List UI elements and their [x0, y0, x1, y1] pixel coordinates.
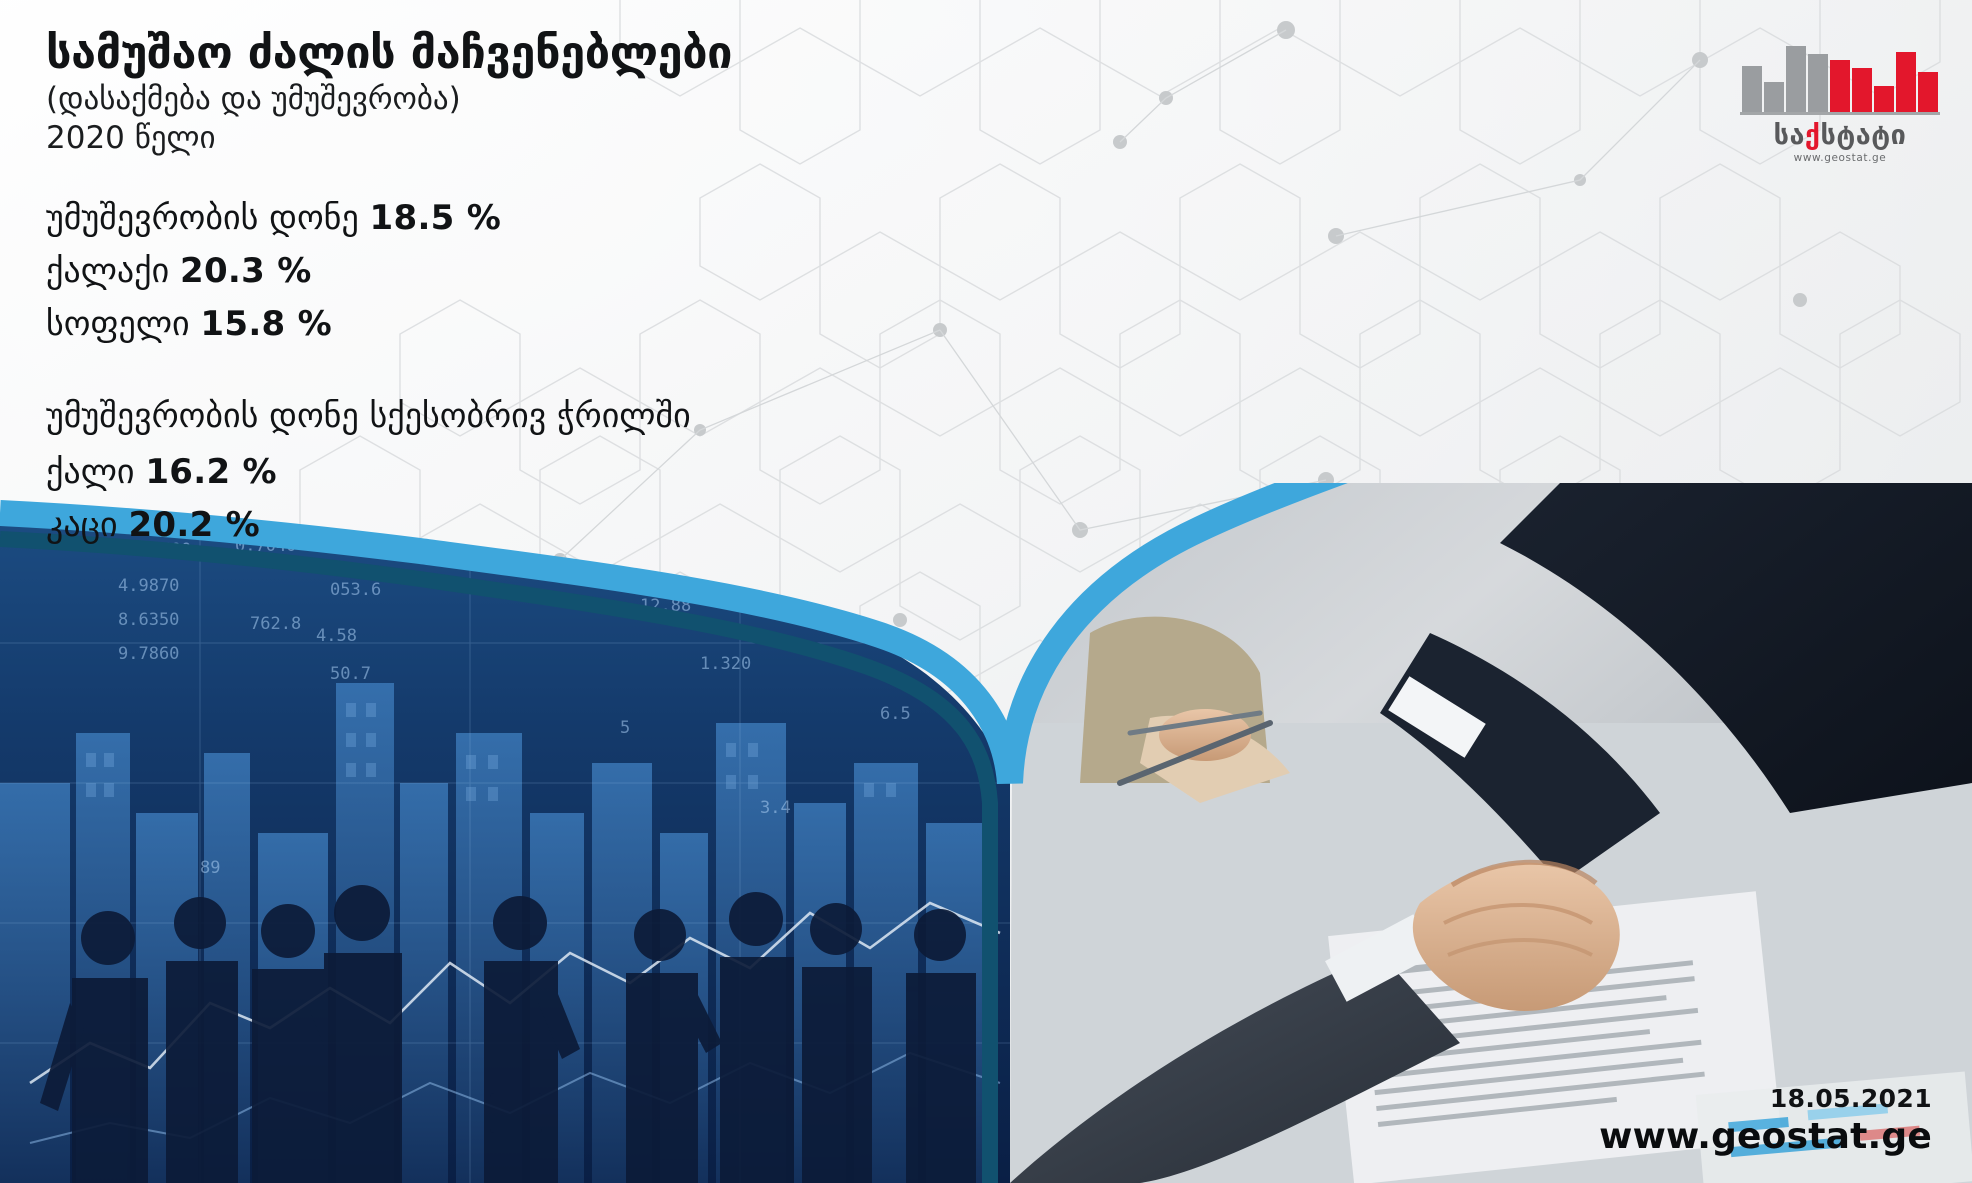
svg-text:50.7: 50.7 [330, 664, 371, 684]
reference-year: 2020 წელი [46, 120, 1126, 158]
stat-row: კაცი 20.2 % [46, 499, 1126, 552]
logo-wordmark: საქსტატი [1740, 122, 1940, 149]
logo-bar [1874, 86, 1894, 112]
stat-label: ქალაქი [46, 251, 169, 291]
stat-row: ქალი 16.2 % [46, 446, 1126, 499]
by-sex-stat-group: უმუშევრობის დონე სქესობრივ ჭრილში ქალი 1… [46, 391, 1126, 552]
logo-bar [1742, 66, 1762, 112]
stat-label: კაცი [46, 505, 118, 545]
by-sex-heading: უმუშევრობის დონე სქესობრივ ჭრილში [46, 391, 1126, 442]
bottom-artwork: CONTRACT [0, 483, 1972, 1183]
geostat-logo[interactable]: საქსტატი www.geostat.ge [1740, 36, 1940, 164]
stat-row: ქალაქი 20.3 % [46, 245, 1126, 298]
logo-wordmark-part-1: სა [1774, 120, 1805, 151]
handshake-photo: CONTRACT [980, 483, 1972, 1183]
footer: 18.05.2021 www.geostat.ge [1599, 1084, 1932, 1157]
headline-and-stats: სამუშაო ძალის მაჩვენებლები (დასაქმება და… [46, 28, 1126, 552]
svg-text:6.5: 6.5 [880, 704, 911, 724]
stat-value: 15.8 % [200, 304, 332, 344]
logo-bar [1786, 46, 1806, 112]
primary-stat-group: უმუშევრობის დონე 18.5 % ქალაქი 20.3 % სო… [46, 192, 1126, 351]
svg-text:5: 5 [620, 718, 630, 738]
website-url[interactable]: www.geostat.ge [1599, 1116, 1932, 1157]
svg-text:1.320: 1.320 [700, 654, 751, 674]
stat-value: 20.2 % [128, 505, 260, 545]
stat-label: სოფელი [46, 304, 190, 344]
logo-bar [1764, 82, 1784, 112]
svg-text:053.6: 053.6 [330, 580, 381, 600]
stat-value: 16.2 % [145, 452, 277, 492]
svg-text:4.9870: 4.9870 [118, 576, 179, 596]
svg-text:9.7860: 9.7860 [118, 644, 179, 664]
logo-url: www.geostat.ge [1740, 152, 1940, 164]
stat-value: 20.3 % [180, 251, 312, 291]
svg-text:762.8: 762.8 [250, 614, 301, 634]
stat-label: ქალი [46, 452, 135, 492]
stat-label: უმუშევრობის დონე [46, 198, 359, 238]
logo-bar [1852, 68, 1872, 112]
logo-bar [1808, 54, 1828, 112]
page-title: სამუშაო ძალის მაჩვენებლები [46, 28, 1126, 78]
stat-row: უმუშევრობის დონე 18.5 % [46, 192, 1126, 245]
logo-bar [1896, 52, 1916, 112]
stat-value: 18.5 % [370, 198, 502, 238]
publication-date: 18.05.2021 [1599, 1084, 1932, 1114]
people-silhouettes [40, 885, 976, 1183]
svg-text:8.6350: 8.6350 [118, 610, 179, 630]
logo-bar-chart-icon [1740, 36, 1940, 115]
stat-row: სოფელი 15.8 % [46, 298, 1126, 351]
logo-bar [1830, 60, 1850, 112]
page-subtitle: (დასაქმება და უმუშევრობა) [46, 81, 1126, 119]
svg-text:3.4: 3.4 [760, 798, 791, 818]
svg-text:89: 89 [200, 858, 220, 878]
infographic-canvas: CONTRACT [0, 0, 1972, 1183]
logo-wordmark-part-2: ქ [1805, 120, 1821, 151]
logo-wordmark-part-3: სტატი [1821, 120, 1907, 151]
logo-bar [1918, 72, 1938, 112]
